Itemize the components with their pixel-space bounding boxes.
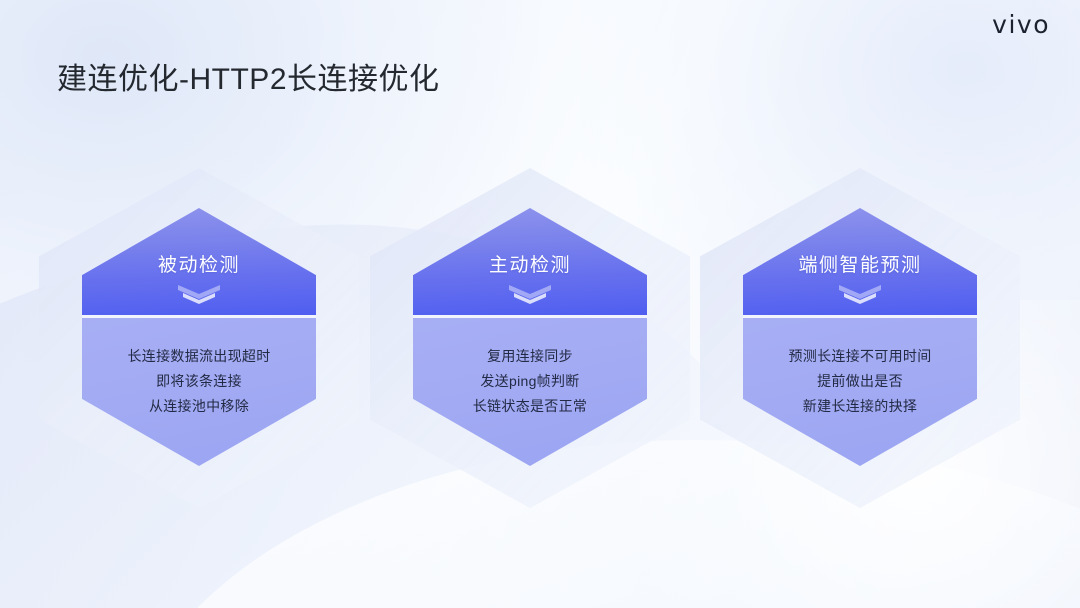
hexagon-card-active-detection[interactable]: 主动检测 复用连接同步 发送ping帧判断 长链状态是否正常 xyxy=(370,168,690,508)
hexagon-card-group: 被动检测 长连接数据流出现超时 即将该条连接 从连接池中移除 主动检测 xyxy=(0,0,1080,608)
slide-canvas: vivo 建连优化-HTTP2长连接优化 被动检测 长连接数据流出现超时 即将该… xyxy=(0,0,1080,608)
hexagon-title: 端侧智能预测 xyxy=(798,256,921,275)
hexagon-description-line: 从连接池中移除 xyxy=(149,394,249,419)
hexagon-description-line: 复用连接同步 xyxy=(487,344,573,369)
hexagon-card-passive-detection[interactable]: 被动检测 长连接数据流出现超时 即将该条连接 从连接池中移除 xyxy=(39,168,359,508)
chevron-double-down-icon xyxy=(507,284,553,304)
hexagon-description-line: 即将该条连接 xyxy=(156,369,242,394)
hexagon-title: 被动检测 xyxy=(158,256,240,275)
hexagon-description-line: 新建长连接的抉择 xyxy=(803,394,917,419)
hexagon-description-line: 长连接数据流出现超时 xyxy=(128,344,271,369)
chevron-double-down-icon xyxy=(176,284,222,304)
hexagon-card-on-device-prediction[interactable]: 端侧智能预测 预测长连接不可用时间 提前做出是否 新建长连接的抉择 xyxy=(700,168,1020,508)
hexagon-description-line: 提前做出是否 xyxy=(817,369,903,394)
chevron-double-down-icon xyxy=(837,284,883,304)
hexagon-description-line: 长链状态是否正常 xyxy=(473,394,587,419)
hexagon-description-line: 预测长连接不可用时间 xyxy=(789,344,932,369)
hexagon-description-line: 发送ping帧判断 xyxy=(480,369,579,394)
hexagon-title: 主动检测 xyxy=(489,256,571,275)
